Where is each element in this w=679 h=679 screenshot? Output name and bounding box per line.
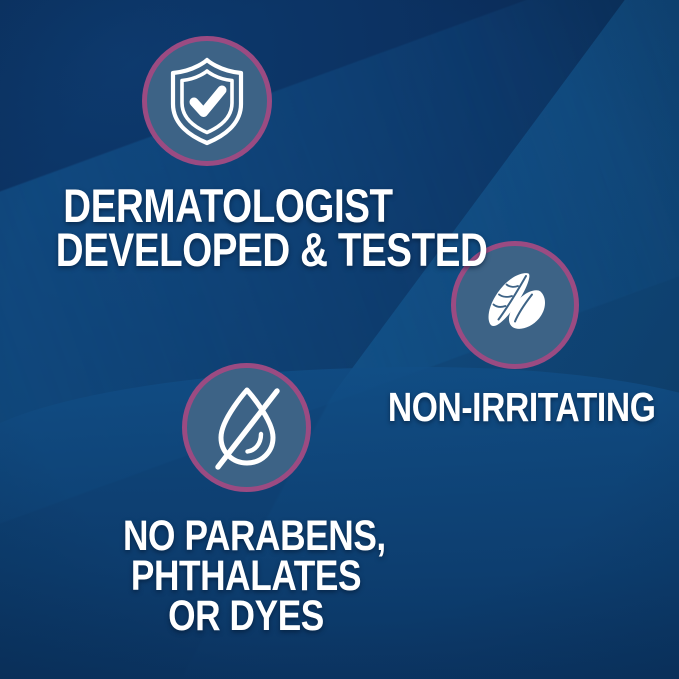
claim-line: NON-IRRITATING	[388, 388, 642, 426]
claim-line: OR DYES	[123, 596, 369, 636]
claim-line: PHTHALATES	[123, 556, 369, 596]
claim-text-no-parabens-phthalates-or-dyes: NO PARABENS, PHTHALATES OR DYES	[123, 516, 369, 636]
claim-line: DEVELOPED & TESTED	[56, 228, 400, 272]
droplet-slash-icon	[204, 382, 290, 474]
claim-line: DERMATOLOGIST	[56, 184, 400, 228]
product-claims-graphic: DERMATOLOGIST DEVELOPED & TESTED NON-IRR…	[0, 0, 679, 679]
claim-text-non-irritating: NON-IRRITATING	[388, 388, 642, 426]
claim-line: NO PARABENS,	[123, 516, 369, 556]
feather-icon	[474, 264, 556, 346]
shield-check-icon	[165, 56, 249, 146]
claim-text-dermatologist-developed-tested: DERMATOLOGIST DEVELOPED & TESTED	[56, 184, 400, 271]
badge-no-parabens-phthalates-or-dyes	[182, 363, 311, 492]
badge-dermatologist-developed-tested	[142, 36, 272, 166]
